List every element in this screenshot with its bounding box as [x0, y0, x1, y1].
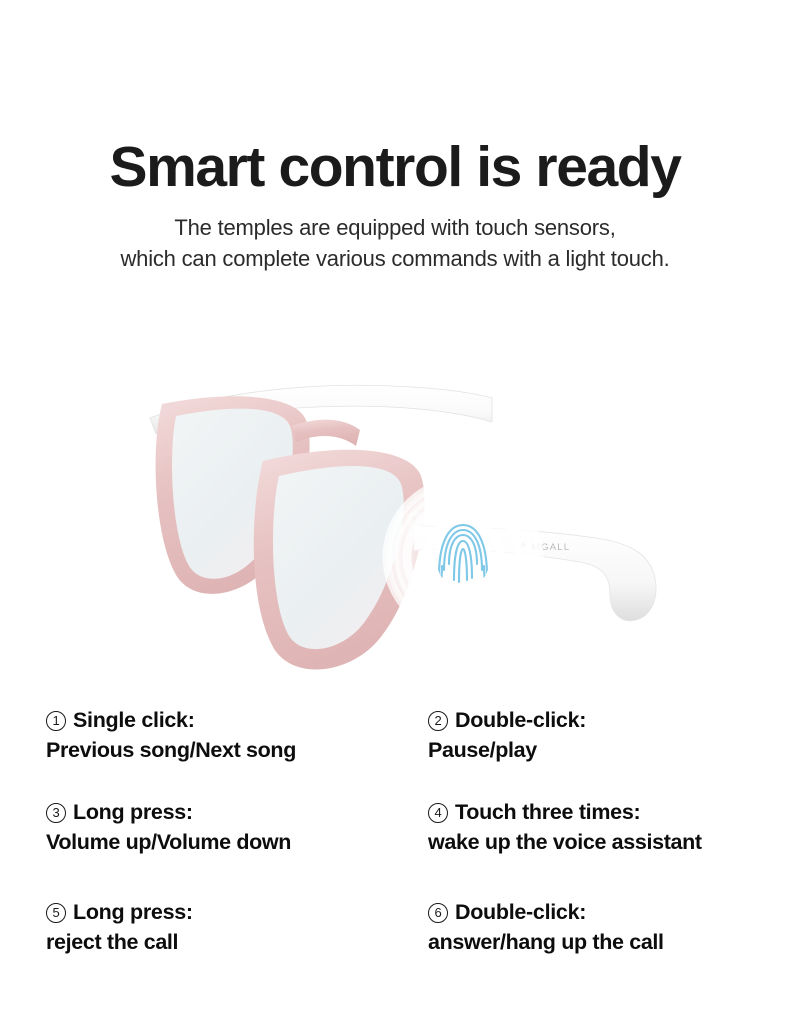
feature-1-number: 1	[46, 711, 66, 731]
feature-item-4: 4 Touch three times: wake up the voice a…	[428, 800, 788, 855]
feature-5-description: reject the call	[46, 930, 406, 955]
feature-6-heading: 6 Double-click:	[428, 900, 788, 925]
feature-item-1: 1 Single click: Previous song/Next song	[46, 708, 406, 763]
feature-2-description: Pause/play	[428, 738, 788, 763]
feature-item-5: 5 Long press: reject the call	[46, 900, 406, 955]
feature-4-number: 4	[428, 803, 448, 823]
feature-6-description: answer/hang up the call	[428, 930, 788, 955]
feature-6-number: 6	[428, 903, 448, 923]
feature-1-heading: 1 Single click:	[46, 708, 406, 733]
feature-6-action: Double-click:	[455, 900, 586, 925]
feature-1-action: Single click:	[73, 708, 195, 733]
subtitle-line-2: which can complete various commands with…	[0, 243, 790, 274]
feature-2-number: 2	[428, 711, 448, 731]
feature-5-heading: 5 Long press:	[46, 900, 406, 925]
touch-ripple-indicator	[385, 479, 541, 635]
feature-4-heading: 4 Touch three times:	[428, 800, 788, 825]
feature-list: 1 Single click: Previous song/Next song …	[0, 708, 790, 988]
feature-3-number: 3	[46, 803, 66, 823]
feature-3-action: Long press:	[73, 800, 193, 825]
feature-5-action: Long press:	[73, 900, 193, 925]
feature-2-heading: 2 Double-click:	[428, 708, 788, 733]
feature-2-action: Double-click:	[455, 708, 586, 733]
feature-item-3: 3 Long press: Volume up/Volume down	[46, 800, 406, 855]
feature-item-6: 6 Double-click: answer/hang up the call	[428, 900, 788, 955]
product-image: MGALL	[0, 330, 790, 680]
feature-4-description: wake up the voice assistant	[428, 830, 788, 855]
feature-item-2: 2 Double-click: Pause/play	[428, 708, 788, 763]
feature-5-number: 5	[46, 903, 66, 923]
page-subtitle: The temples are equipped with touch sens…	[0, 212, 790, 274]
feature-3-description: Volume up/Volume down	[46, 830, 406, 855]
feature-1-description: Previous song/Next song	[46, 738, 406, 763]
feature-4-action: Touch three times:	[455, 800, 640, 825]
feature-3-heading: 3 Long press:	[46, 800, 406, 825]
subtitle-line-1: The temples are equipped with touch sens…	[0, 212, 790, 243]
product-feature-page: Smart control is ready The temples are e…	[0, 0, 790, 1022]
page-title: Smart control is ready	[0, 139, 790, 196]
